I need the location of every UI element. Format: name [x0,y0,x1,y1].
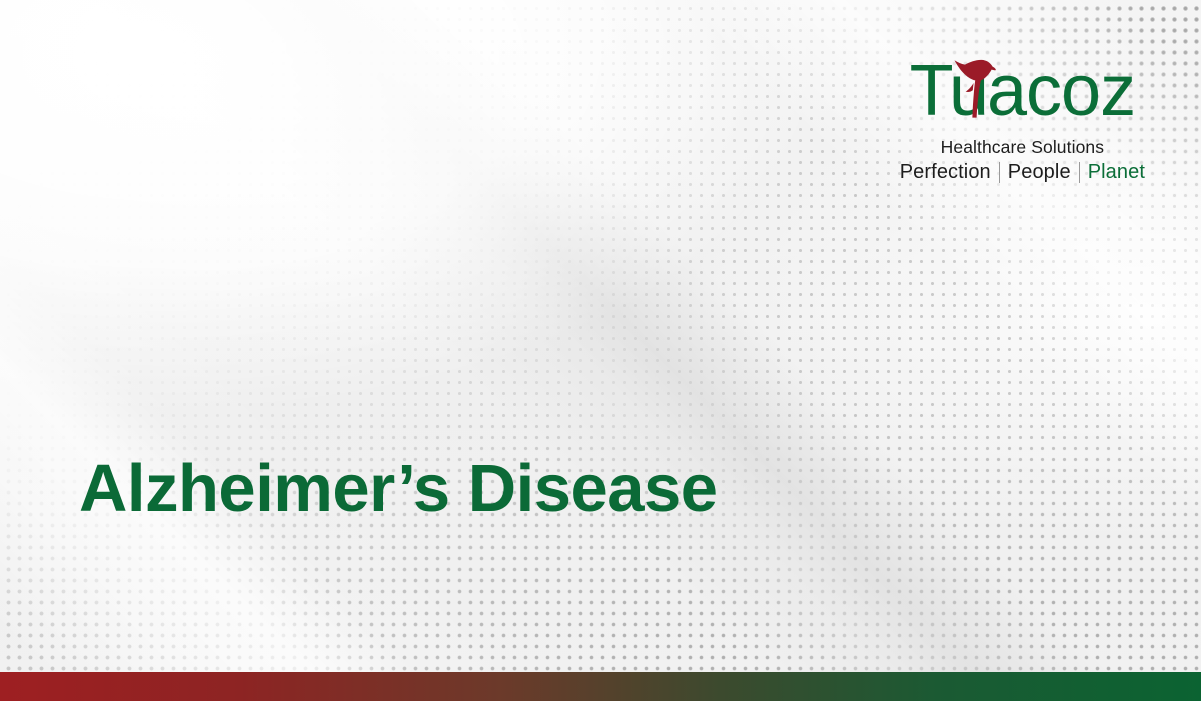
bottom-accent-bar [0,672,1201,701]
logo-values: Perfection People Planet [892,161,1153,184]
turacoz-logo: Tuacoz Healthcare Solutions Perfection P… [892,62,1153,184]
logo-wordmark-prefix: Tu [910,51,987,131]
logo-value-perfection: Perfection [892,161,999,184]
logo-tagline: Healthcare Solutions [892,137,1153,157]
title-slide: Tuacoz Healthcare Solutions Perfection P… [0,0,1201,701]
logo-value-people: People [1000,161,1079,184]
logo-wordmark: Tuacoz [892,62,1153,128]
page-title: Alzheimer’s Disease [79,455,718,522]
logo-wordmark-suffix: acoz [987,51,1135,131]
logo-value-planet: Planet [1080,161,1153,184]
